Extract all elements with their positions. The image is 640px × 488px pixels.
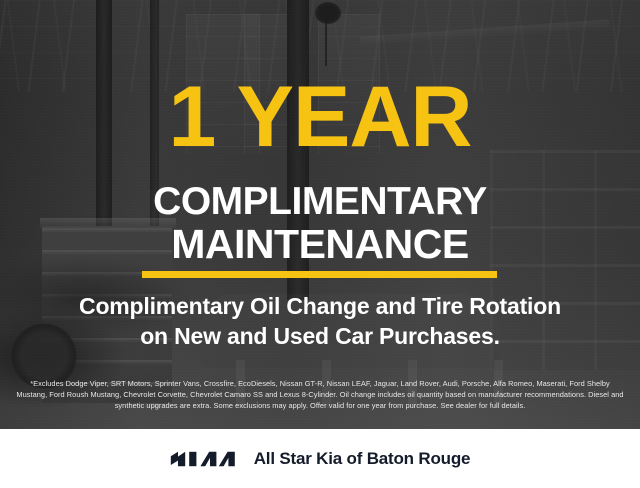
hero-content: 1 YEAR COMPLIMENTARY MAINTENANCE Complim… [0, 0, 640, 488]
yellow-divider-bar [142, 271, 497, 278]
offer-line-2: on New and Used Car Purchases. [0, 321, 640, 351]
advertisement-banner: 1 YEAR COMPLIMENTARY MAINTENANCE Complim… [0, 0, 640, 488]
offer-line-1: Complimentary Oil Change and Tire Rotati… [0, 291, 640, 321]
dealer-name: All Star Kia of Baton Rouge [254, 449, 471, 469]
headline-complimentary: COMPLIMENTARY [0, 182, 640, 221]
footer-bar: All Star Kia of Baton Rouge [0, 429, 640, 488]
headline-year: 1 YEAR [0, 74, 640, 160]
disclaimer-text: *Excludes Dodge Viper, SRT Motors, Sprin… [16, 378, 624, 412]
headline-maintenance: MAINTENANCE [0, 224, 640, 265]
offer-description: Complimentary Oil Change and Tire Rotati… [0, 291, 640, 351]
kia-logo-icon [170, 449, 238, 469]
